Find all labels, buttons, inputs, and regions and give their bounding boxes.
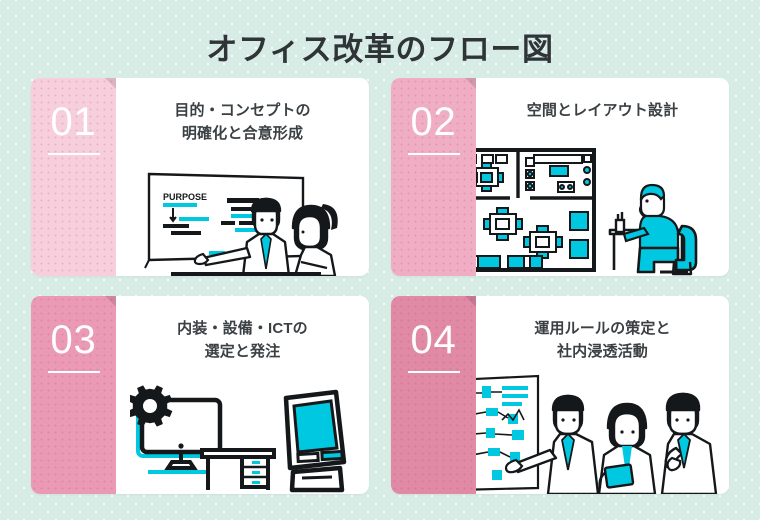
card-content: 内装・設備・ICTの 選定と発注 <box>116 296 369 494</box>
flow-card-grid: 01 目的・コンセプトの 明確化と合意形成 PURPOSE <box>0 78 760 494</box>
step-number: 01 <box>50 102 96 142</box>
step-number-rule <box>408 153 460 155</box>
card-title: 目的・コンセプトの 明確化と合意形成 <box>164 78 320 145</box>
flow-card-03[interactable]: 03 内装・設備・ICTの 選定と発注 <box>31 296 369 494</box>
card-title: 運用ルールの策定と 社内浸透活動 <box>524 296 680 363</box>
card-content: 空間とレイアウト設計 <box>476 78 729 276</box>
step-number-rule <box>48 371 100 373</box>
step-number: 03 <box>50 320 96 360</box>
card-title: 空間とレイアウト設計 <box>517 78 689 123</box>
page-title: オフィス改革のフロー図 <box>0 0 760 78</box>
flow-card-04[interactable]: 04 運用ルールの策定と 社内浸透活動 <box>391 296 729 494</box>
corner-fold-icon <box>105 78 116 89</box>
corner-fold-icon <box>465 78 476 89</box>
card-title: 内装・設備・ICTの 選定と発注 <box>167 296 318 363</box>
step-number-rule <box>48 153 100 155</box>
step-number-panel: 03 <box>31 296 116 494</box>
step-number: 02 <box>410 102 456 142</box>
card-content: 目的・コンセプトの 明確化と合意形成 PURPOSE <box>116 78 369 276</box>
flow-card-01[interactable]: 01 目的・コンセプトの 明確化と合意形成 PURPOSE <box>31 78 369 276</box>
step-number-panel: 04 <box>391 296 476 494</box>
floor-plan-and-desk-worker-illustration <box>476 123 729 277</box>
corner-fold-icon <box>105 296 116 307</box>
card-content: 運用ルールの策定と 社内浸透活動 <box>476 296 729 494</box>
svg-text:PURPOSE: PURPOSE <box>163 192 207 202</box>
step-number-rule <box>408 371 460 373</box>
step-number-panel: 02 <box>391 78 476 276</box>
step-number-panel: 01 <box>31 78 116 276</box>
corner-fold-icon <box>465 296 476 307</box>
whiteboard-presentation-illustration: PURPOSE <box>116 145 369 276</box>
notebook-and-team-discussion-illustration <box>476 363 729 494</box>
flow-card-02[interactable]: 02 空間とレイアウト設計 <box>391 78 729 276</box>
step-number: 04 <box>410 320 456 360</box>
monitor-gear-desk-kiosk-illustration <box>116 363 369 494</box>
